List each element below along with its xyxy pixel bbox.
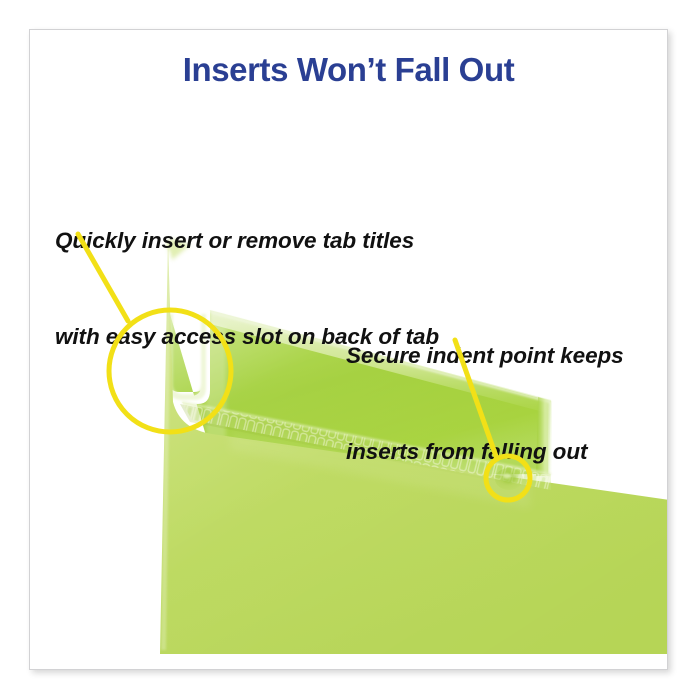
callout-indent-point-line1: Secure indent point keeps — [346, 340, 624, 372]
callout-access-slot-line1: Quickly insert or remove tab titles — [55, 225, 439, 257]
page-title: Inserts Won’t Fall Out — [30, 52, 667, 88]
product-feature-image: Inserts Won’t Fall Out Quickly insert or… — [0, 0, 700, 700]
callout-indent-point: Secure indent point keeps inserts from f… — [346, 276, 624, 532]
callout-indent-point-line2: inserts from falling out — [346, 436, 624, 468]
photo-frame: Inserts Won’t Fall Out Quickly insert or… — [29, 29, 668, 670]
